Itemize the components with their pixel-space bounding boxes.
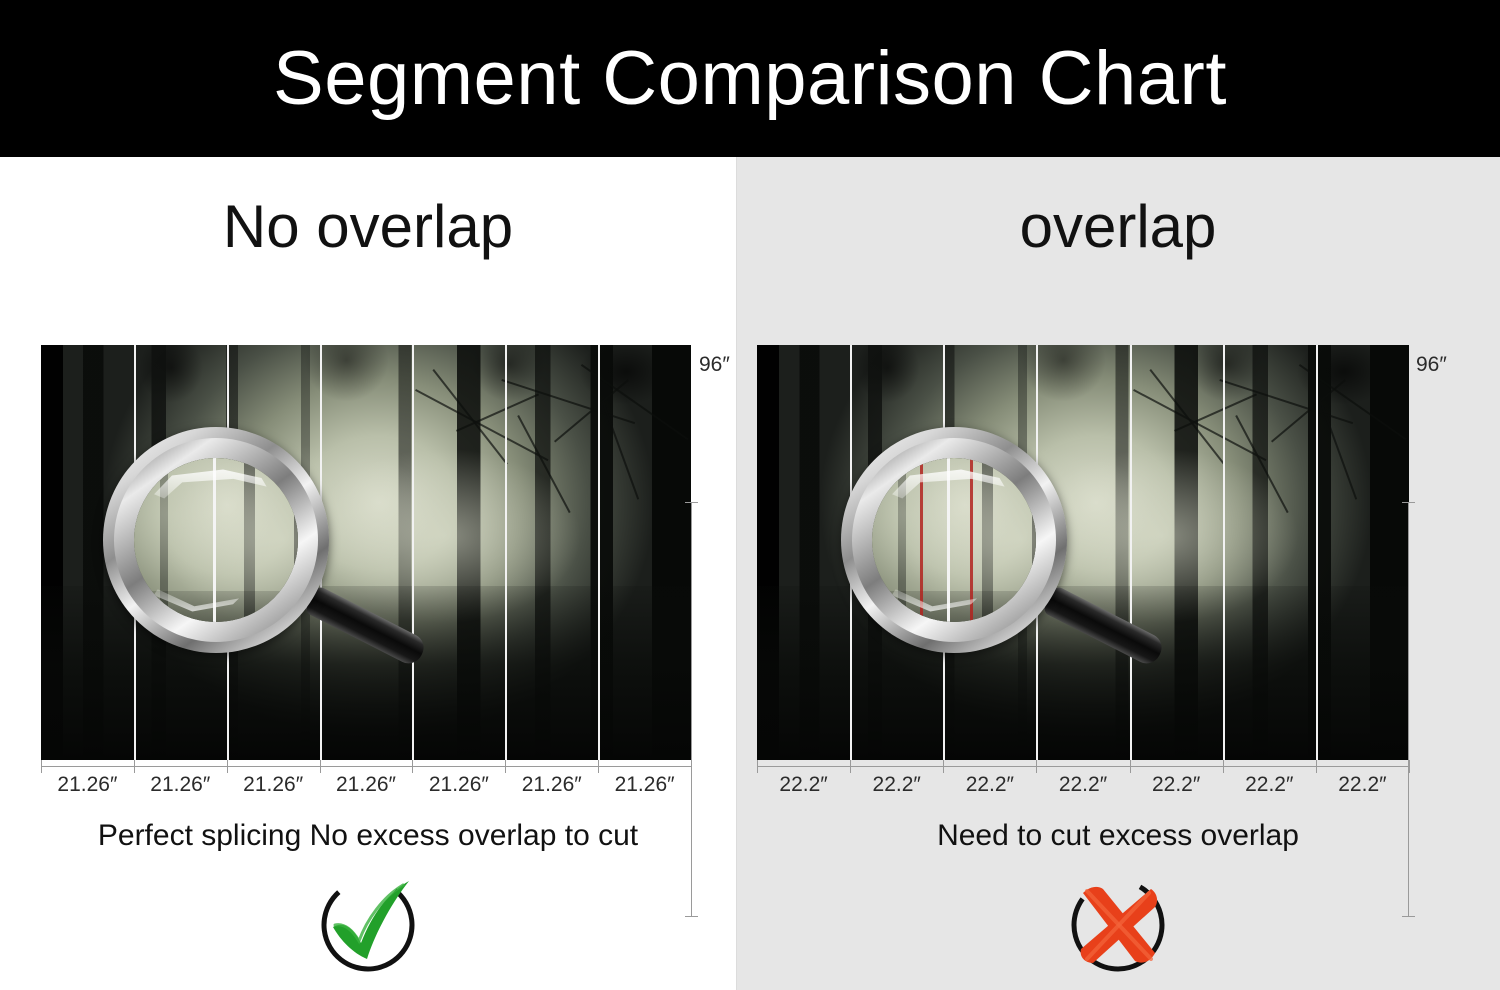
- caption-overlap: Need to cut excess overlap: [736, 819, 1500, 853]
- segment-width-label: 21.26″: [598, 773, 691, 797]
- magnifier-inner-ring: [852, 438, 1056, 642]
- segment-width-label: 21.26″: [412, 773, 505, 797]
- panel-heading-overlap: overlap: [736, 197, 1500, 257]
- title-bar: Segment Comparison Chart: [0, 0, 1500, 157]
- page-title: Segment Comparison Chart: [0, 0, 1500, 157]
- mural-photo-no-overlap: [41, 345, 691, 760]
- height-dimension-line-overlap: [1408, 502, 1409, 917]
- segment-width-label: 22.2″: [1223, 773, 1316, 797]
- segment-width-label: 21.26″: [505, 773, 598, 797]
- panel-divider: [736, 157, 737, 990]
- segment-width-label: 22.2″: [1316, 773, 1409, 797]
- panel-heading-no-overlap: No overlap: [0, 197, 736, 257]
- height-label-overlap: 96″: [1416, 353, 1447, 377]
- check-mark-icon: [309, 875, 427, 975]
- verdict-no-overlap: [0, 875, 736, 975]
- segment-width-label: 22.2″: [1036, 773, 1129, 797]
- width-dimension-line-no-overlap: [41, 766, 691, 767]
- panel-no-overlap: No overlap: [0, 157, 736, 990]
- height-label-no-overlap: 96″: [699, 353, 730, 377]
- magnifier-lens: [134, 458, 298, 622]
- magnifier-lens: [872, 458, 1036, 622]
- photo-branches-layer: [1122, 353, 1409, 610]
- segment-width-label: 22.2″: [943, 773, 1036, 797]
- magnified-seam-line: [947, 458, 950, 622]
- magnifier-overlap: [841, 427, 1067, 653]
- magnified-photo: [134, 458, 298, 622]
- height-dimension-line-no-overlap: [691, 502, 692, 917]
- verdict-overlap: [736, 875, 1500, 975]
- infographic-page: Segment Comparison Chart No overlap: [0, 0, 1500, 990]
- overlap-marker-right: [970, 458, 973, 622]
- figure-no-overlap: 21.26″ 21.26″ 21.26″ 21.26″ 21.26″ 21.26…: [41, 345, 691, 760]
- magnified-seam-line: [213, 458, 216, 622]
- segment-width-labels-no-overlap: 21.26″ 21.26″ 21.26″ 21.26″ 21.26″ 21.26…: [41, 773, 691, 797]
- comparison-panels: No overlap: [0, 157, 1500, 990]
- segment-width-label: 21.26″: [227, 773, 320, 797]
- magnified-photo: [872, 458, 1036, 622]
- cross-mark-icon: [1059, 875, 1177, 975]
- width-dimension-line-overlap: [757, 766, 1409, 767]
- panel-overlap: overlap: [736, 157, 1500, 990]
- photo-branches-layer: [405, 353, 691, 610]
- caption-no-overlap: Perfect splicing No excess overlap to cu…: [0, 819, 736, 853]
- segment-width-label: 21.26″: [41, 773, 134, 797]
- magnifier-no-overlap: [103, 427, 329, 653]
- overlap-marker-left: [920, 458, 923, 622]
- magnifier-outer-ring: [841, 427, 1067, 653]
- segment-width-label: 22.2″: [850, 773, 943, 797]
- segment-width-labels-overlap: 22.2″ 22.2″ 22.2″ 22.2″ 22.2″ 22.2″ 22.2…: [757, 773, 1409, 797]
- segment-width-label: 21.26″: [134, 773, 227, 797]
- segment-width-label: 21.26″: [320, 773, 413, 797]
- magnifier-outer-ring: [103, 427, 329, 653]
- segment-width-label: 22.2″: [757, 773, 850, 797]
- magnifier-inner-ring: [114, 438, 318, 642]
- figure-overlap: 22.2″ 22.2″ 22.2″ 22.2″ 22.2″ 22.2″ 22.2…: [757, 345, 1409, 760]
- segment-width-label: 22.2″: [1130, 773, 1223, 797]
- mural-photo-overlap: [757, 345, 1409, 760]
